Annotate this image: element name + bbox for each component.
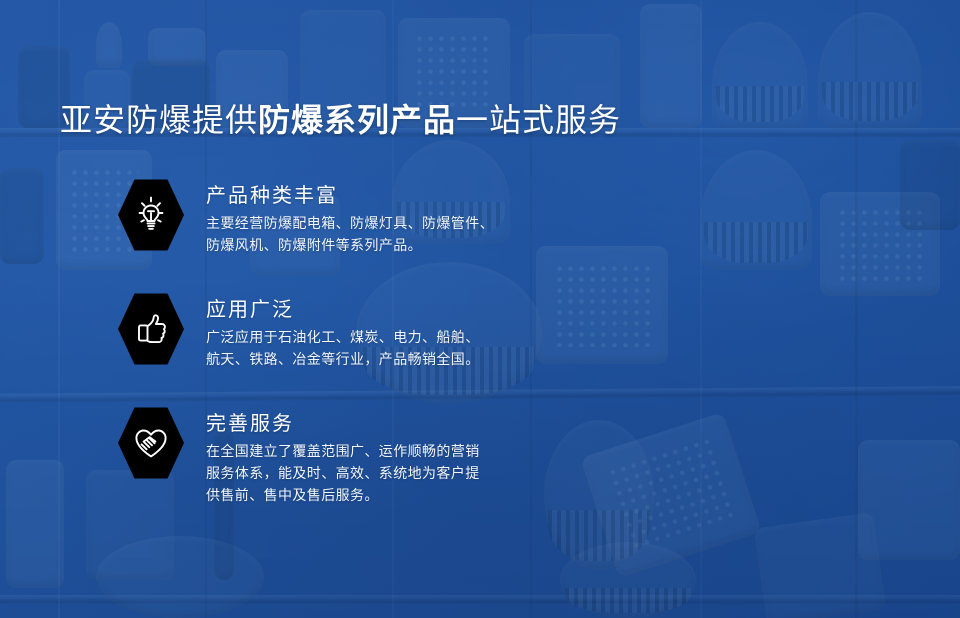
feature-item-wide-application: 应用广泛 广泛应用于石油化工、煤炭、电力、船舶、 航天、铁路、冶金等行业，产品畅… — [118, 292, 638, 370]
feature-icon-badge — [118, 292, 184, 366]
feature-description-line: 防爆风机、防爆附件等系列产品。 — [206, 234, 494, 256]
feature-title: 应用广泛 — [206, 296, 480, 324]
feature-description-line: 在全国建立了覆盖范围广、运作顺畅的营销 — [206, 440, 480, 462]
feature-item-complete-service: 完善服务 在全国建立了覆盖范围广、运作顺畅的营销 服务体系，能及时、高效、系统地… — [118, 406, 638, 506]
feature-description: 广泛应用于石油化工、煤炭、电力、船舶、 航天、铁路、冶金等行业，产品畅销全国。 — [206, 326, 480, 370]
feature-item-product-variety: 产品种类丰富 主要经营防爆配电箱、防爆灯具、防爆管件、 防爆风机、防爆附件等系列… — [118, 178, 638, 256]
feature-title: 产品种类丰富 — [206, 182, 494, 210]
lightbulb-icon — [134, 196, 168, 234]
feature-text: 完善服务 在全国建立了覆盖范围广、运作顺畅的营销 服务体系，能及时、高效、系统地… — [206, 406, 480, 506]
title-highlight: 防爆系列产品 — [258, 102, 456, 138]
feature-description-line: 广泛应用于石油化工、煤炭、电力、船舶、 — [206, 326, 480, 348]
feature-text: 产品种类丰富 主要经营防爆配电箱、防爆灯具、防爆管件、 防爆风机、防爆附件等系列… — [206, 178, 494, 256]
feature-description-line: 航天、铁路、冶金等行业，产品畅销全国。 — [206, 348, 480, 370]
feature-text: 应用广泛 广泛应用于石油化工、煤炭、电力、船舶、 航天、铁路、冶金等行业，产品畅… — [206, 292, 480, 370]
title-part-one: 亚安防爆提供 — [60, 102, 258, 138]
feature-list: 产品种类丰富 主要经营防爆配电箱、防爆灯具、防爆管件、 防爆风机、防爆附件等系列… — [118, 178, 638, 506]
feature-description: 主要经营防爆配电箱、防爆灯具、防爆管件、 防爆风机、防爆附件等系列产品。 — [206, 212, 494, 256]
feature-title: 完善服务 — [206, 410, 480, 438]
title-part-three: 一站式服务 — [456, 102, 621, 138]
feature-description: 在全国建立了覆盖范围广、运作顺畅的营销 服务体系，能及时、高效、系统地为客户提 … — [206, 440, 480, 506]
feature-description-line: 主要经营防爆配电箱、防爆灯具、防爆管件、 — [206, 212, 494, 234]
feature-description-line: 供售前、售中及售后服务。 — [206, 484, 480, 506]
feature-description-line: 服务体系，能及时、高效、系统地为客户提 — [206, 462, 480, 484]
page-title: 亚安防爆提供防爆系列产品一站式服务 — [60, 98, 621, 142]
feature-icon-badge — [118, 406, 184, 480]
feature-icon-badge — [118, 178, 184, 252]
promo-banner: 亚安防爆提供防爆系列产品一站式服务 — [0, 0, 960, 618]
banner-content: 亚安防爆提供防爆系列产品一站式服务 — [0, 0, 960, 618]
heart-handshake-icon — [133, 426, 169, 460]
thumbs-up-icon — [134, 312, 168, 346]
